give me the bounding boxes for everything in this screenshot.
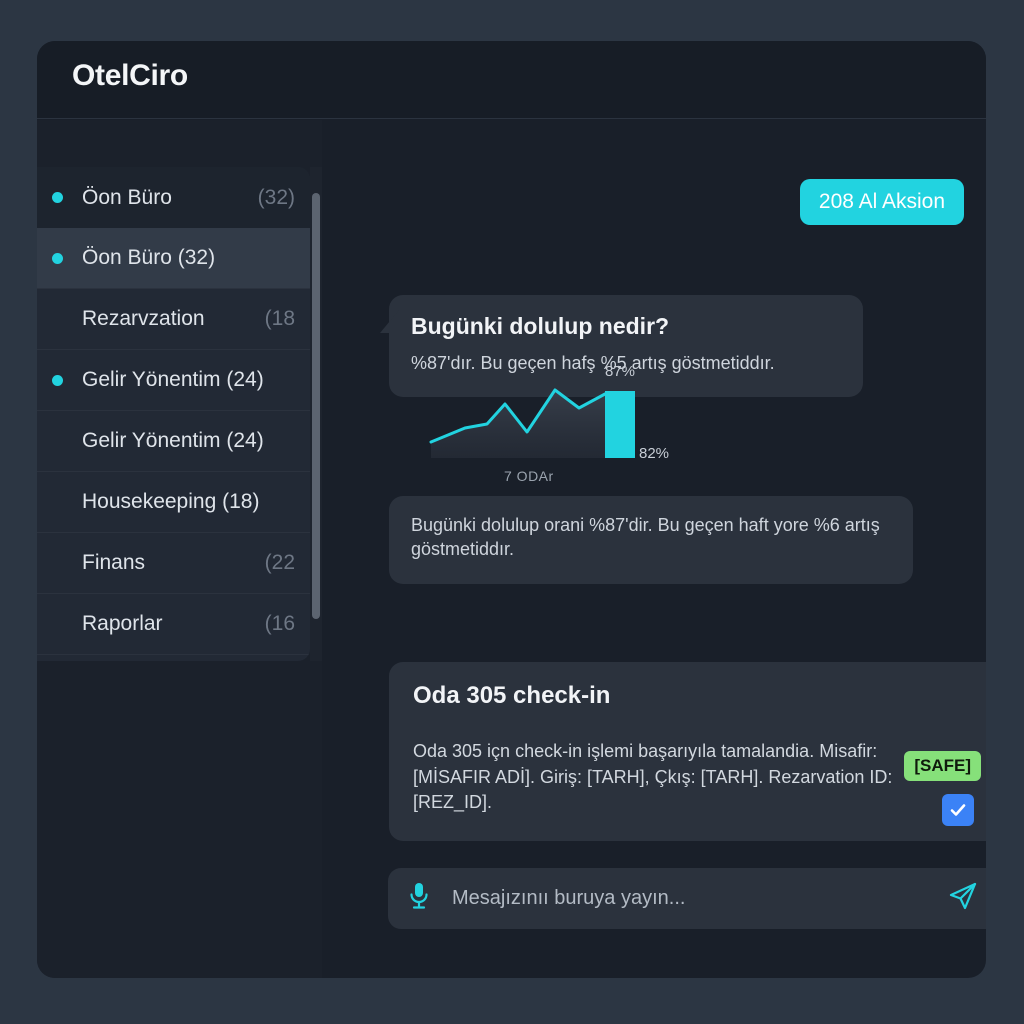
chat-area: 208 Al Aksion Bugünki dolulup nedir? %87…	[322, 120, 986, 978]
message-input[interactable]	[452, 887, 933, 910]
sidebar-item-count: (32)	[258, 186, 295, 210]
app-header: OtelCiro	[37, 41, 986, 119]
microphone-icon[interactable]	[408, 881, 430, 916]
status-dot-icon	[52, 253, 63, 264]
sidebar-item-label: Housekeeping (18)	[82, 490, 259, 514]
sidebar-item-label: Öon Büro	[82, 186, 172, 210]
sidebar: Öon Büro (32) Öon Büro (32) Rezarvzation…	[37, 120, 322, 978]
action-card-body: Oda 305 içn check-in işlemi başarıyıla t…	[413, 739, 903, 816]
ai-action-button[interactable]: 208 Al Aksion	[800, 179, 964, 225]
status-dot-icon	[52, 375, 63, 386]
chart-peak-label: 87%	[605, 363, 635, 380]
sidebar-item-label: Öon Büro (32)	[82, 246, 215, 270]
sidebar-item-label: Raporlar	[82, 612, 163, 636]
action-card-title: Oda 305 check-in	[413, 682, 975, 710]
app-title: OtelCiro	[72, 59, 188, 93]
send-icon[interactable]	[947, 880, 979, 917]
sidebar-item-count: (18	[265, 307, 295, 331]
status-dot-icon	[52, 436, 63, 447]
chart-highlight-bar	[605, 391, 635, 458]
message-composer	[388, 868, 986, 929]
sidebar-item-label: Gelir Yönentim (24)	[82, 429, 264, 453]
status-dot-icon	[52, 619, 63, 630]
status-badge-safe: [SAFE]	[904, 751, 981, 781]
status-dot-icon	[52, 558, 63, 569]
sidebar-item-rezarvzation[interactable]: Rezarvzation (18	[37, 289, 310, 350]
checkmark-icon	[948, 800, 968, 820]
sidebar-item-count: (22	[265, 551, 295, 575]
chart-x-axis-label: 7 ODAr	[504, 468, 554, 484]
sidebar-nav-list: Öon Büro (32) Öon Büro (32) Rezarvzation…	[37, 167, 310, 661]
message-bubble-answer: Bugünki dolulup orani %87'dir. Bu geçen …	[389, 496, 913, 584]
chart-base-label: 82%	[639, 445, 669, 462]
status-dot-icon	[52, 497, 63, 508]
sidebar-item-gelir-yonentim-2[interactable]: Gelir Yönentim (24)	[37, 411, 310, 472]
sidebar-item-count: (16	[265, 612, 295, 636]
sidebar-item-on-buro[interactable]: Öon Büro (32)	[37, 167, 310, 228]
sidebar-item-raporlar[interactable]: Raporlar (16	[37, 594, 310, 655]
sidebar-item-housekeeping[interactable]: Housekeeping (18)	[37, 472, 310, 533]
confirm-checkbox[interactable]	[942, 794, 974, 826]
sidebar-item-label: Finans	[82, 551, 145, 575]
bubble-text: Bugünki dolulup orani %87'dir. Bu geçen …	[411, 513, 891, 562]
occupancy-chart: 87% 82% 7 ODAr	[427, 366, 677, 486]
sidebar-item-label: Rezarvzation	[82, 307, 205, 331]
sidebar-item-label: Gelir Yönentim (24)	[82, 368, 264, 392]
chart-area	[431, 390, 605, 458]
app-window: OtelCiro Öon Büro (32) Öon Büro (32) Rez…	[37, 41, 986, 978]
status-dot-icon	[52, 314, 63, 325]
sidebar-item-gelir-yonentim[interactable]: Gelir Yönentim (24)	[37, 350, 310, 411]
status-dot-icon	[52, 192, 63, 203]
sidebar-item-on-buro-selected[interactable]: Öon Büro (32)	[37, 228, 310, 289]
action-card-checkin: Oda 305 check-in Oda 305 içn check-in iş…	[389, 662, 986, 841]
sidebar-scrollbar-thumb[interactable]	[312, 193, 320, 619]
bubble-title: Bugünki dolulup nedir?	[411, 313, 841, 340]
sidebar-item-finans[interactable]: Finans (22	[37, 533, 310, 594]
